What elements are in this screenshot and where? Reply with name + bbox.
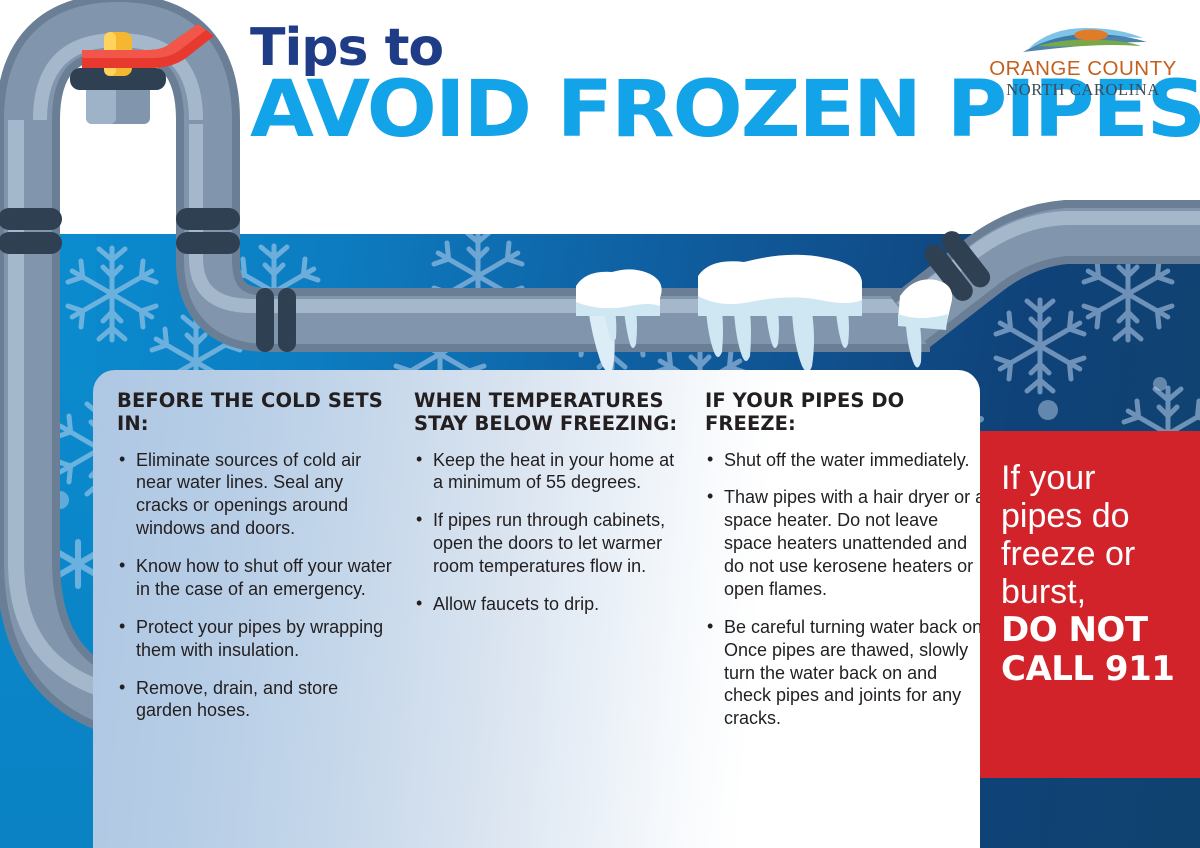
ice-formation-elbow <box>898 279 952 367</box>
list-item: Thaw pipes with a hair dryer or a space … <box>705 486 980 600</box>
list-item: Allow faucets to drip. <box>414 593 684 616</box>
list-item: If pipes run through cabinets, open the … <box>414 509 684 578</box>
callout-line: If your <box>1001 459 1180 497</box>
logo-line-north-carolina: NORTH CAROLINA <box>988 81 1178 99</box>
callout-emphasis-line: CALL 911 <box>1001 650 1180 688</box>
column-heading: BEFORE THE COLD SETS IN: <box>117 390 399 436</box>
list-item: Know how to shut off your water in the c… <box>117 555 399 601</box>
column-heading: IF YOUR PIPES DO FREEZE: <box>705 390 980 436</box>
column-heading: WHEN TEMPERATURES STAY BELOW FREEZING: <box>414 390 684 436</box>
infographic-poster: Tips to AVOID FROZEN PIPES ORANGE COUNTY… <box>0 0 1200 848</box>
tips-list: Eliminate sources of cold air near water… <box>117 449 399 723</box>
list-item: Remove, drain, and store garden hoses. <box>117 677 399 723</box>
tips-list: Shut off the water immediately. Thaw pip… <box>705 449 980 730</box>
list-item: Eliminate sources of cold air near water… <box>117 449 399 540</box>
tips-list: Keep the heat in your home at a minimum … <box>414 449 684 616</box>
callout-line: freeze or <box>1001 535 1180 573</box>
logo-line-orange-county: ORANGE COUNTY <box>988 58 1178 80</box>
county-swoosh-icon <box>1007 22 1159 56</box>
tips-panel-group: BEFORE THE COLD SETS IN: Eliminate sourc… <box>93 370 980 848</box>
list-item: Be careful turning water back on. Once p… <box>705 616 980 730</box>
list-item: Keep the heat in your home at a minimum … <box>414 449 684 495</box>
tips-column-below-freezing: WHEN TEMPERATURES STAY BELOW FREEZING: K… <box>414 370 684 631</box>
list-item: Shut off the water immediately. <box>705 449 980 472</box>
callout-line: pipes do <box>1001 497 1180 535</box>
callout-line: burst, <box>1001 573 1180 611</box>
orange-county-logo: ORANGE COUNTY NORTH CAROLINA <box>988 22 1178 99</box>
emergency-callout: If your pipes do freeze or burst, DO NOT… <box>980 431 1200 778</box>
tips-column-before-the-cold: BEFORE THE COLD SETS IN: Eliminate sourc… <box>117 370 399 737</box>
list-item: Protect your pipes by wrapping them with… <box>117 616 399 662</box>
tips-column-if-pipes-freeze: IF YOUR PIPES DO FREEZE: Shut off the wa… <box>705 370 980 745</box>
callout-emphasis-line: DO NOT <box>1001 611 1180 649</box>
ice-formation-right <box>698 255 862 372</box>
poster-header: Tips to AVOID FROZEN PIPES ORANGE COUNTY… <box>0 0 1200 234</box>
